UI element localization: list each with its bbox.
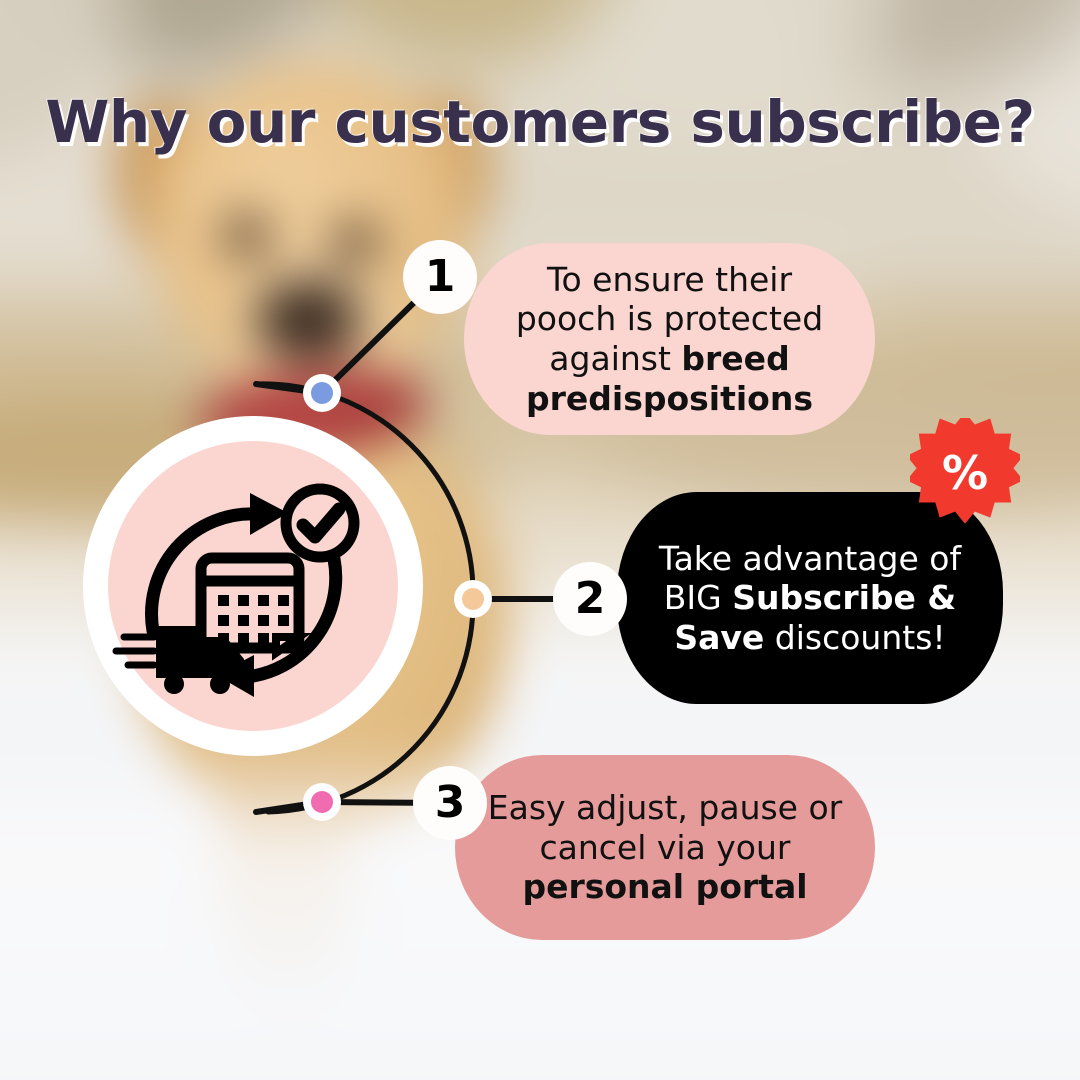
subscription-delivery-icon — [108, 441, 398, 731]
callout-box-1[interactable]: To ensure their pooch is protected again… — [464, 243, 875, 435]
check-circle-icon — [286, 489, 354, 557]
callout-box-3[interactable]: Easy adjust, pause or cancel via your pe… — [455, 755, 875, 940]
connector-dot-2 — [454, 580, 492, 618]
percent-label: % — [910, 418, 1020, 528]
badge-number-2[interactable]: 2 — [553, 562, 627, 636]
connector-dot-3 — [303, 783, 341, 821]
dot-core-2 — [462, 588, 484, 610]
callout-text-2: Take advantage of BIG Subscribe & Save d… — [659, 539, 961, 658]
connector-dot-1 — [303, 374, 341, 412]
subscription-icon-badge — [83, 416, 423, 756]
callout-text-1: To ensure their pooch is protected again… — [516, 260, 823, 418]
callout-text-3: Easy adjust, pause or cancel via your pe… — [488, 788, 842, 907]
poster-canvas: Why our customers subscribe? — [0, 0, 1080, 1080]
badge-number-1[interactable]: 1 — [403, 240, 477, 314]
dot-core-1 — [311, 382, 333, 404]
percent-starburst-badge: % — [910, 418, 1020, 528]
badge-number-3[interactable]: 3 — [413, 766, 487, 840]
dot-core-3 — [311, 791, 333, 813]
